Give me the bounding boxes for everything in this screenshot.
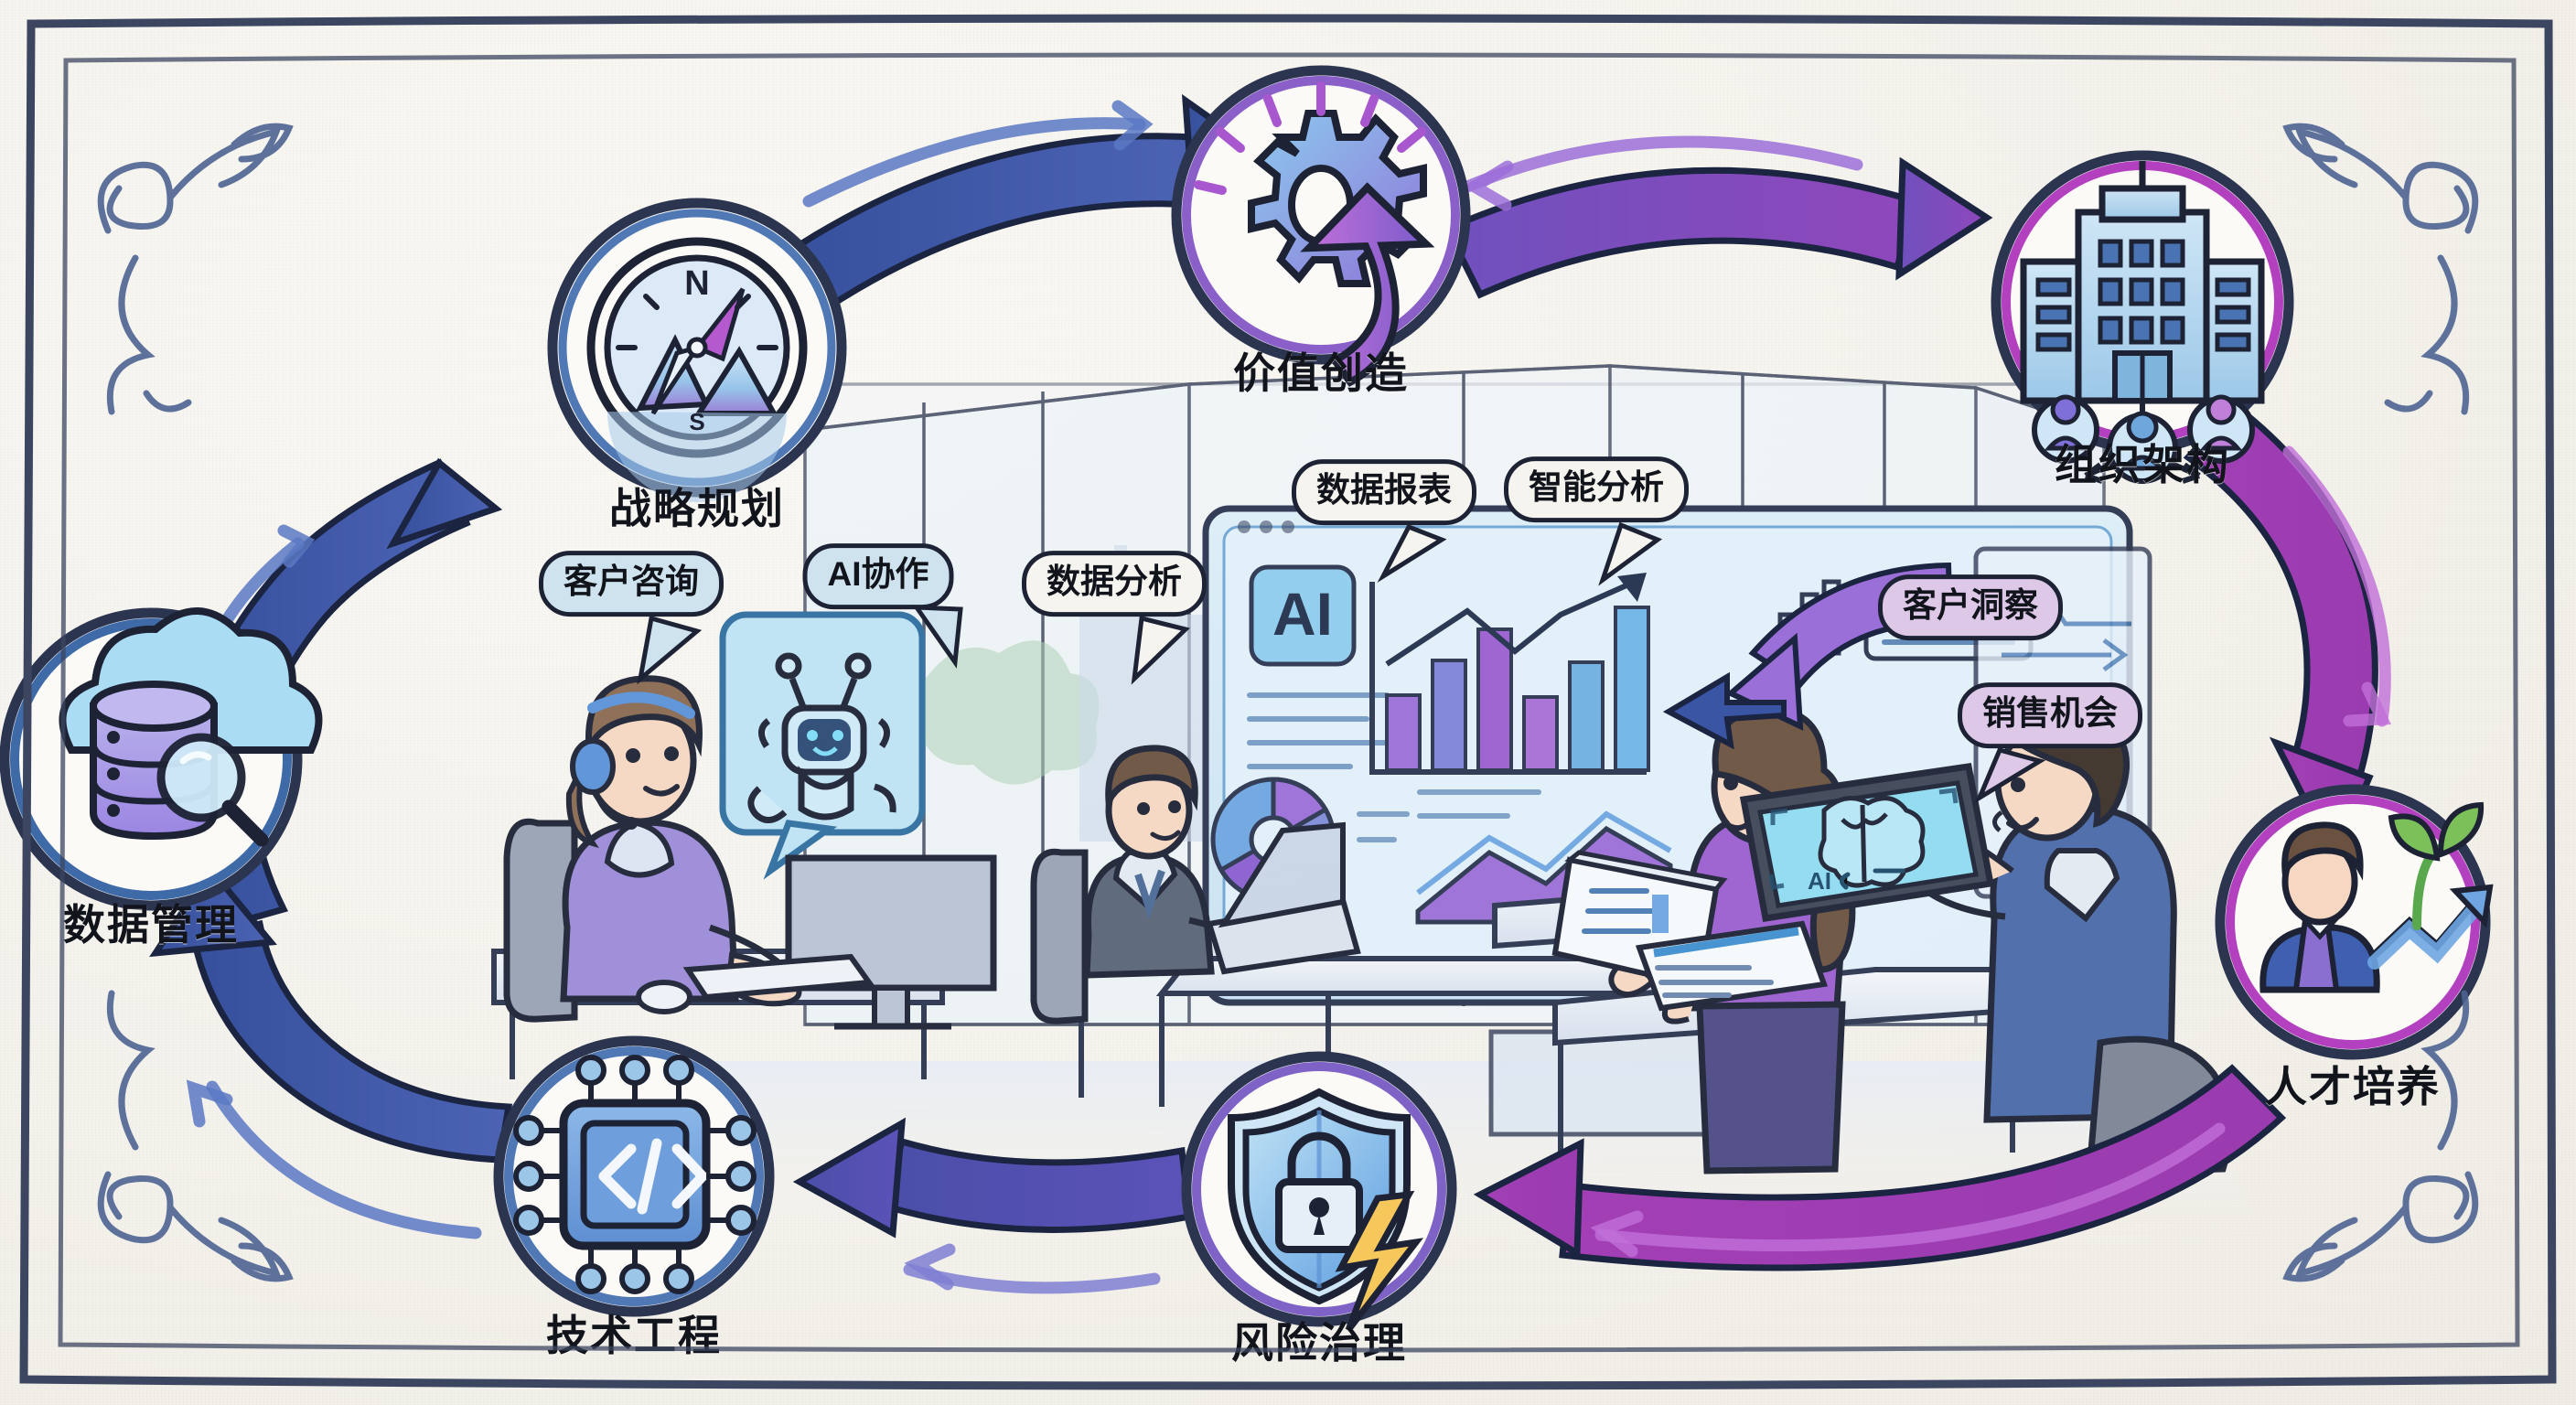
decorative-frame <box>0 0 2576 1405</box>
corner-ornament-top-left <box>101 126 289 412</box>
corner-ornament-bottom-right <box>2287 993 2475 1279</box>
corner-ornament-top-right <box>2287 126 2475 412</box>
illustration-canvas: AI <box>0 0 2576 1405</box>
corner-ornament-bottom-left <box>101 993 289 1279</box>
